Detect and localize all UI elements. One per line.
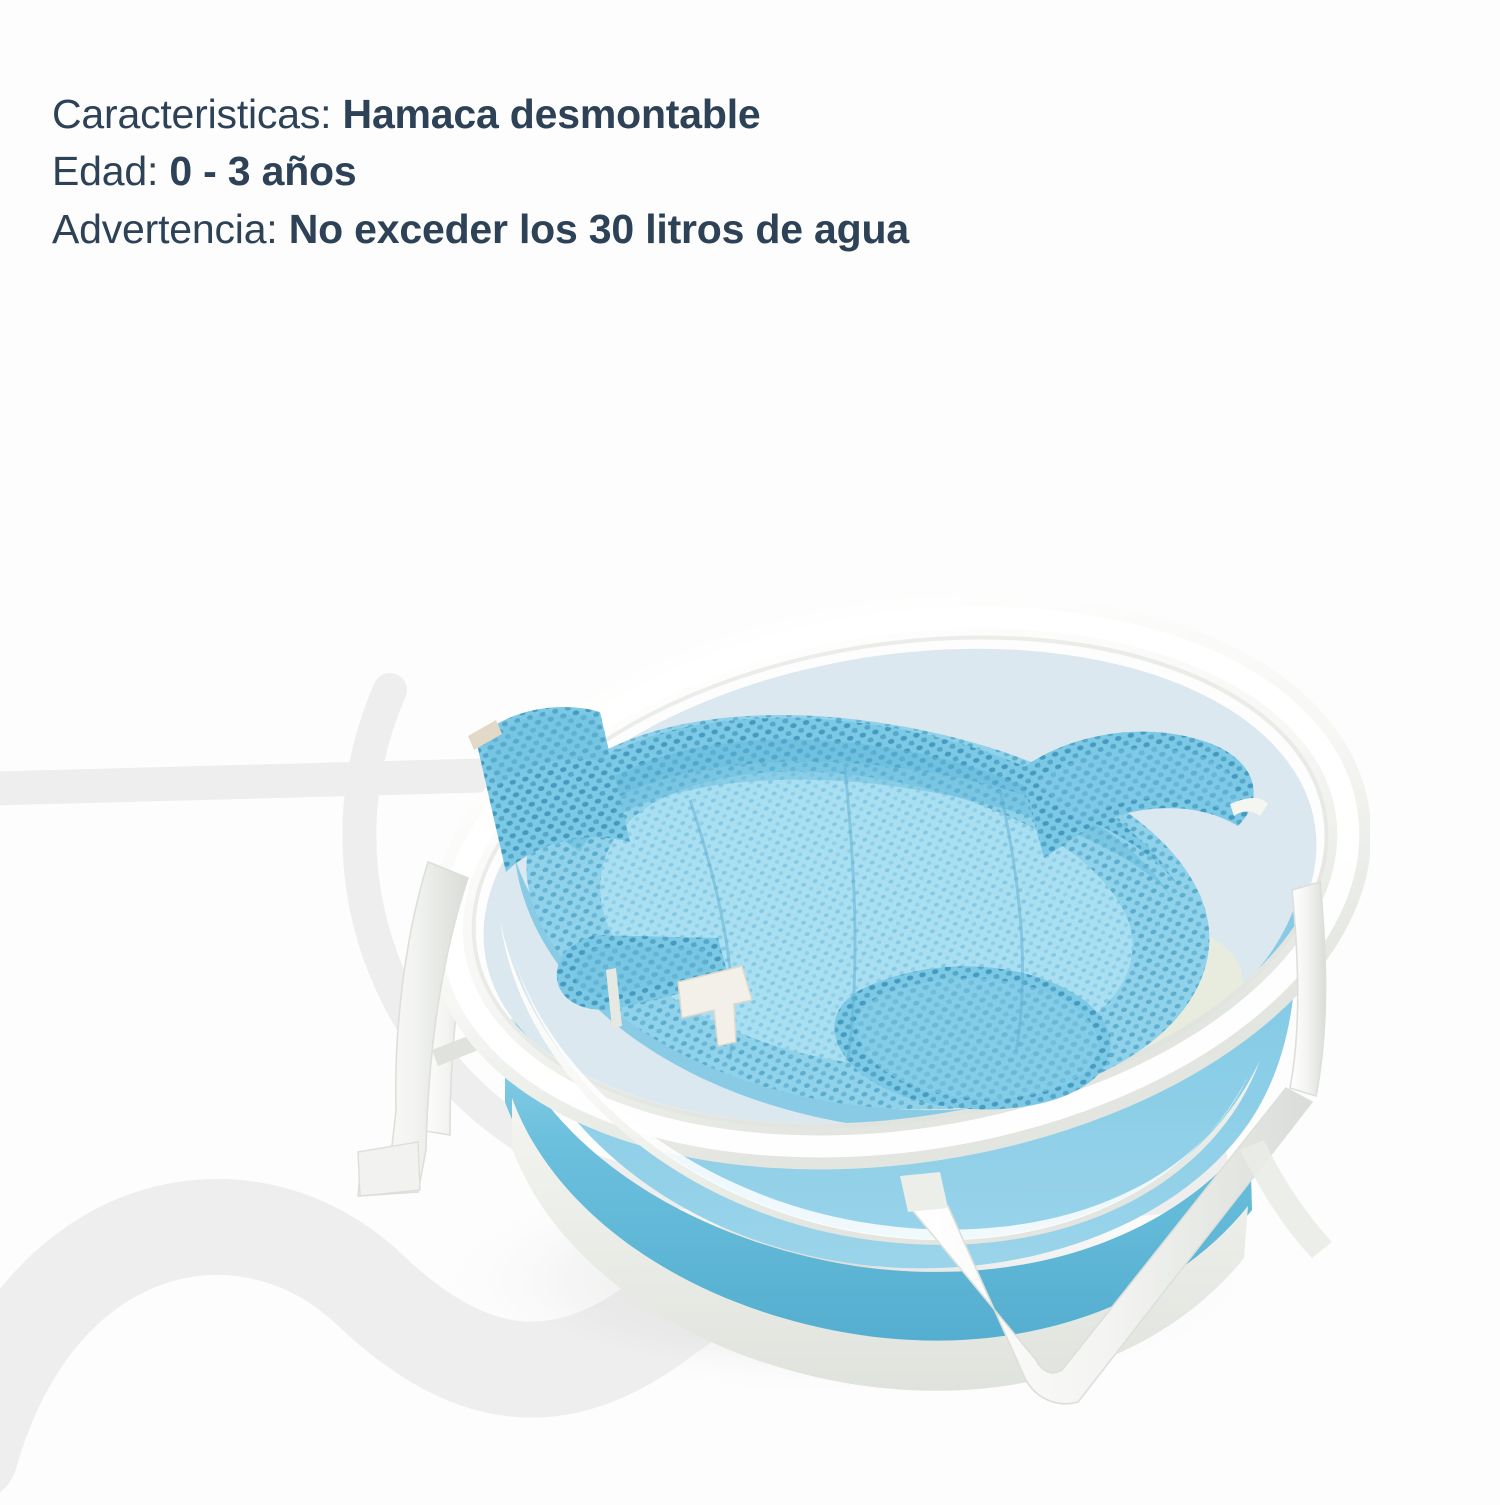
product-spec-card: Caracteristicas: Hamaca desmontable Edad… [0,0,1500,1500]
spec-label-caracteristicas: Caracteristicas: [52,91,331,137]
product-image-foldable-baby-bathtub [300,590,1370,1410]
spec-value-edad: 0 - 3 años [169,148,356,194]
spec-row-edad: Edad: 0 - 3 años [52,145,909,198]
spec-row-caracteristicas: Caracteristicas: Hamaca desmontable [52,88,909,141]
spec-value-caracteristicas: Hamaca desmontable [343,91,761,137]
spec-list: Caracteristicas: Hamaca desmontable Edad… [52,88,909,260]
spec-label-edad: Edad: [52,148,158,194]
spec-value-advertencia: No exceder los 30 litros de agua [289,206,909,252]
leg-back-right [1240,1140,1332,1258]
spec-label-advertencia: Advertencia: [52,206,278,252]
spec-row-advertencia: Advertencia: No exceder los 30 litros de… [52,203,909,256]
